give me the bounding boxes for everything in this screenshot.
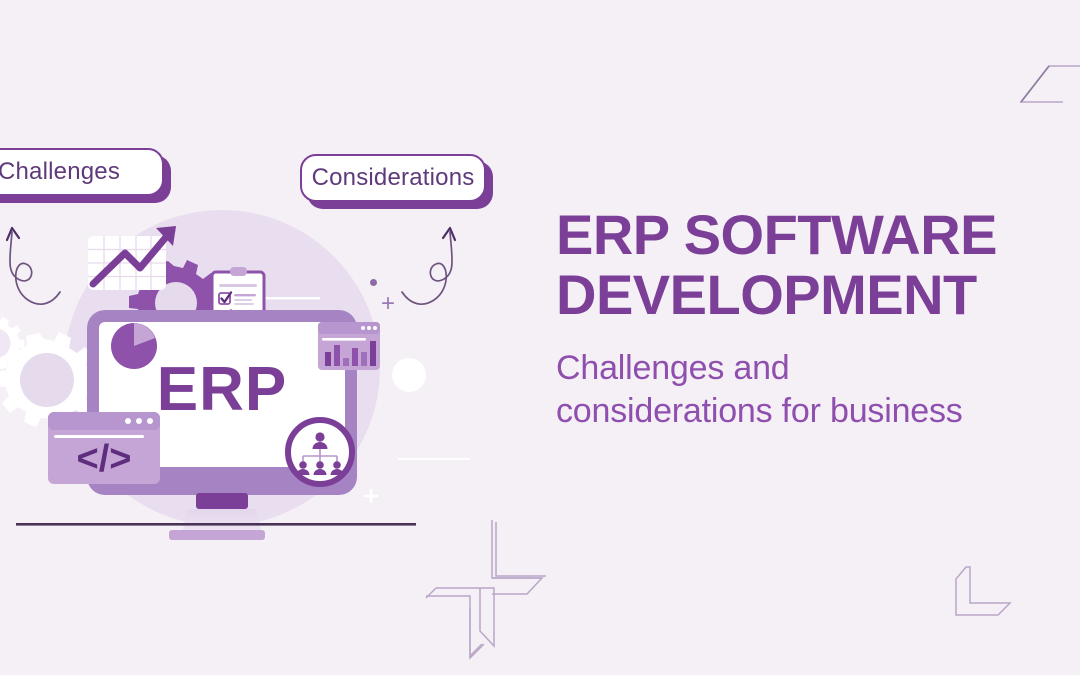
line-chart-icon xyxy=(88,226,176,290)
erp-screen-label: ERP xyxy=(157,355,287,424)
code-window: </> xyxy=(48,412,160,484)
badge-challenges-label: Challenges xyxy=(0,158,120,186)
white-circle-accent xyxy=(392,358,426,392)
page-title: ERP SOFTWARE DEVELOPMENT xyxy=(556,205,1080,325)
erp-banner: + xyxy=(0,0,1080,675)
subhead-line-1: Challenges and xyxy=(556,349,790,387)
plus-sparkle-icon xyxy=(365,490,377,502)
corner-bracket-top-right-icon xyxy=(1005,62,1080,112)
badge-considerations[interactable]: Considerations xyxy=(300,154,486,202)
ground-line xyxy=(16,523,416,526)
subhead-line-2: considerations for business xyxy=(556,392,963,430)
headline-line-1: ERP SOFTWARE xyxy=(556,203,997,266)
badge-challenges[interactable]: Challenges xyxy=(0,148,164,196)
headline-block: ERP SOFTWARE DEVELOPMENT Challenges and … xyxy=(556,205,1080,434)
erp-illustration: ERP </ xyxy=(0,200,470,550)
badge-considerations-label: Considerations xyxy=(312,164,475,192)
code-glyph: </> xyxy=(77,438,132,480)
pie-chart-icon xyxy=(111,323,157,369)
accent-line-right xyxy=(398,458,470,460)
page-subtitle: Challenges and considerations for busine… xyxy=(556,347,1080,434)
org-chart-icon xyxy=(288,420,352,484)
headline-line-2: DEVELOPMENT xyxy=(556,265,1080,325)
corner-bracket-bottom-right-icon xyxy=(948,563,1018,623)
bar-chart-window xyxy=(318,322,380,370)
